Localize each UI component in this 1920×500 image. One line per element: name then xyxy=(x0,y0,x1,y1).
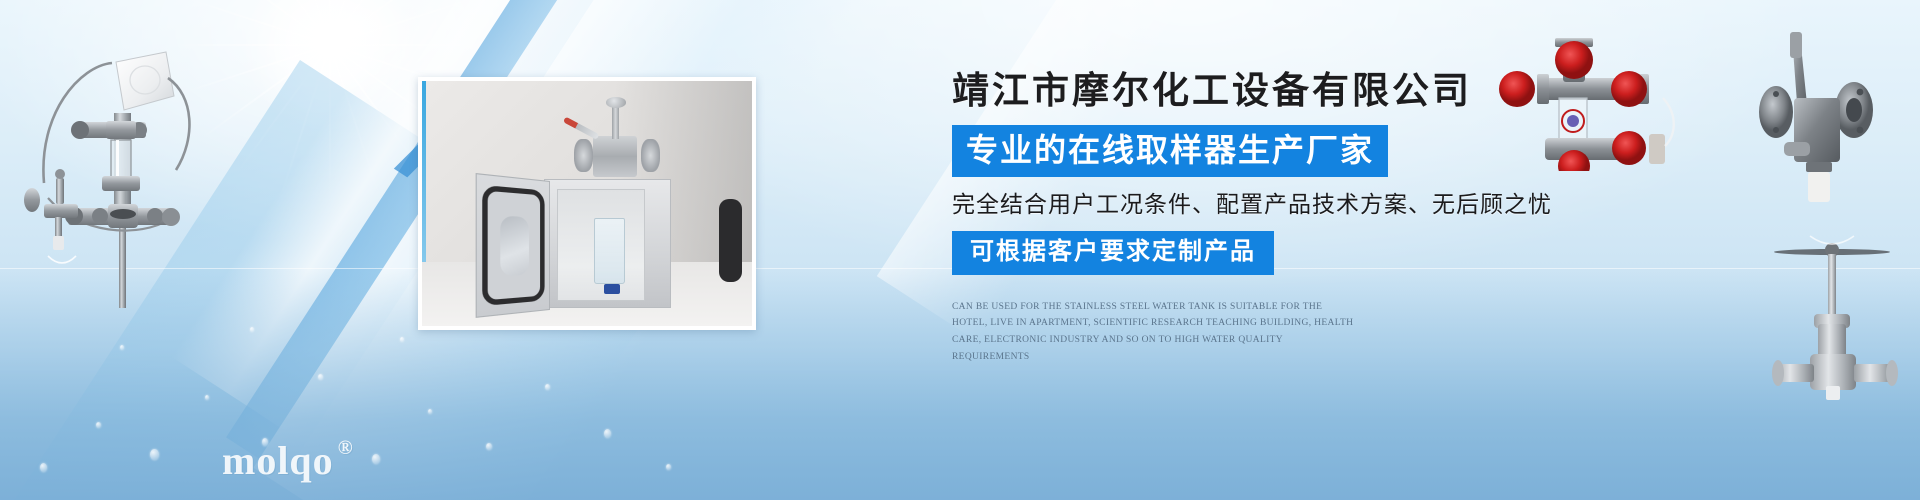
product-image-left-sampler xyxy=(8,18,208,308)
product-image-needle-valve xyxy=(1770,228,1910,408)
sampler-cabinet-door xyxy=(475,173,549,318)
valve-body xyxy=(593,136,638,178)
valve-flange-right xyxy=(641,139,660,172)
product-image-lever-valve xyxy=(1748,22,1918,212)
valve-red-lever xyxy=(563,117,599,140)
banner-text-block: 靖江市摩尔化工设备有限公司 专业的在线取样器生产厂家 完全结合用户工况条件、配置… xyxy=(952,72,1692,375)
cabinet-handle xyxy=(719,199,742,282)
watermark-text: molqo xyxy=(222,438,334,483)
custom-product-highlight: 可根据客户要求定制产品 xyxy=(952,231,1274,275)
subheadline-text: 完全结合用户工况条件、配置产品技术方案、无后顾之忧 xyxy=(952,191,1552,219)
product-banner: 靖江市摩尔化工设备有限公司 专业的在线取样器生产厂家 完全结合用户工况条件、配置… xyxy=(0,0,1920,500)
english-description: CAN BE USED FOR THE STAINLESS STEEL WATE… xyxy=(952,299,1357,366)
product-photo-center xyxy=(418,77,756,330)
sampling-valve-assembly xyxy=(574,101,660,184)
valve-knob xyxy=(606,97,627,108)
valve-flange-left xyxy=(574,139,593,172)
door-window xyxy=(500,216,529,276)
door-gasket xyxy=(482,185,544,307)
sample-bottle xyxy=(594,218,626,284)
headline-highlight: 专业的在线取样器生产厂家 xyxy=(952,125,1388,177)
sample-bottle-cap xyxy=(604,284,621,294)
product-photo-inner xyxy=(422,81,752,326)
registered-trademark-icon: ® xyxy=(338,437,354,459)
watermark-logo: molqo® xyxy=(222,437,354,484)
company-name: 靖江市摩尔化工设备有限公司 xyxy=(952,72,1692,113)
